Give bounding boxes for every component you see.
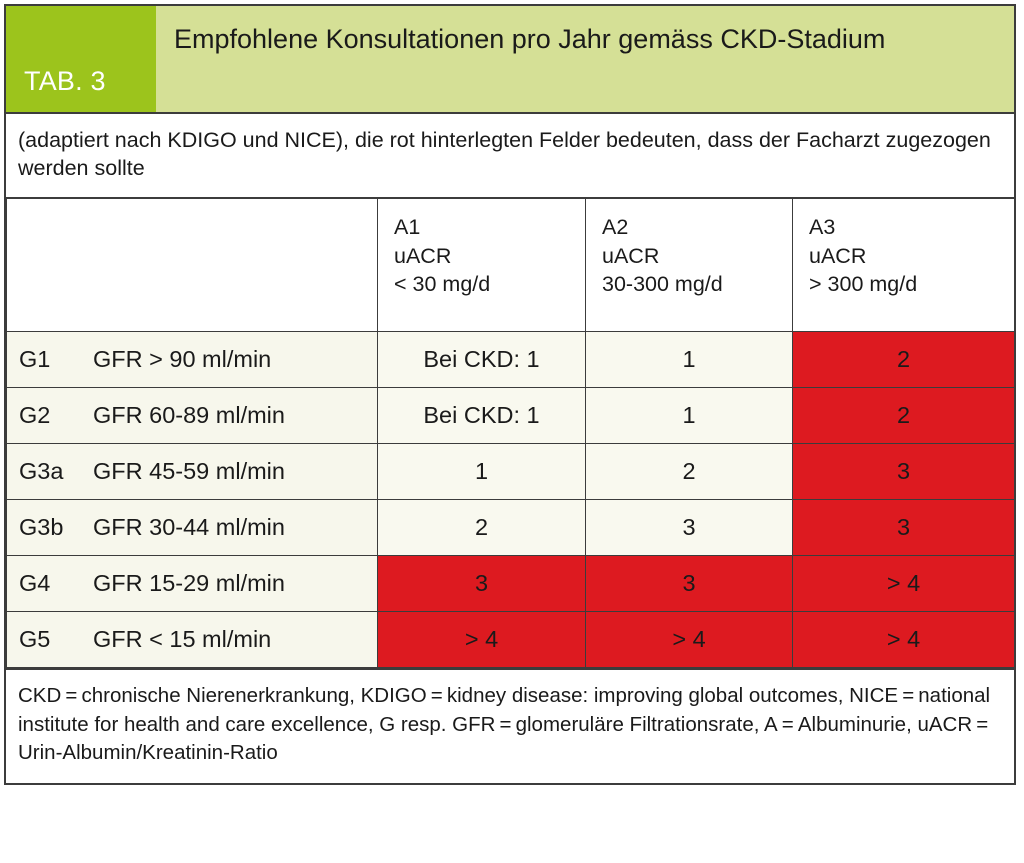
stage-description: GFR > 90 ml/min [93, 346, 271, 373]
stage-code: G4 [19, 570, 93, 597]
stage-description: GFR 30-44 ml/min [93, 514, 285, 541]
table-footnote-row: CKD = chronische Nierenerkrankung, KDIGO… [6, 668, 1014, 783]
column-header-code: A3 [809, 213, 1014, 242]
column-header-measure: uACR [602, 242, 792, 271]
value-cell-g2-a3: 2 [793, 388, 1015, 444]
value-cell-g3b-a2: 3 [586, 500, 793, 556]
column-header-a2: A2uACR30-300 mg/d [586, 198, 793, 332]
consultation-matrix: A1uACR< 30 mg/dA2uACR30-300 mg/dA3uACR> … [6, 197, 1015, 669]
stage-code: G5 [19, 626, 93, 653]
table-row: G2GFR 60-89 ml/minBei CKD: 112 [7, 388, 1015, 444]
value-cell-g3a-a1: 1 [378, 444, 586, 500]
stage-code: G3a [19, 458, 93, 485]
stage-inner: G3bGFR 30-44 ml/min [19, 514, 377, 541]
table-caption: (adaptiert nach KDIGO und NICE), die rot… [18, 128, 991, 180]
stage-cell-g2: G2GFR 60-89 ml/min [7, 388, 378, 444]
table-number-label: TAB. 3 [24, 68, 106, 95]
stage-inner: G4GFR 15-29 ml/min [19, 570, 377, 597]
value-cell-g5-a3: > 4 [793, 612, 1015, 668]
matrix-corner-cell [7, 198, 378, 332]
stage-description: GFR 60-89 ml/min [93, 402, 285, 429]
table-container: TAB. 3 Empfohlene Konsultationen pro Jah… [4, 4, 1016, 785]
table-caption-row: (adaptiert nach KDIGO und NICE), die rot… [6, 112, 1014, 197]
table-row: G5GFR < 15 ml/min> 4> 4> 4 [7, 612, 1015, 668]
stage-code: G2 [19, 402, 93, 429]
stage-cell-g1: G1GFR > 90 ml/min [7, 332, 378, 388]
value-cell-g2-a1: Bei CKD: 1 [378, 388, 586, 444]
stage-inner: G5GFR < 15 ml/min [19, 626, 377, 653]
matrix-header-row: A1uACR< 30 mg/dA2uACR30-300 mg/dA3uACR> … [7, 198, 1015, 332]
stage-code: G3b [19, 514, 93, 541]
value-cell-g3a-a3: 3 [793, 444, 1015, 500]
value-cell-g5-a2: > 4 [586, 612, 793, 668]
column-header-range: < 30 mg/d [394, 270, 585, 299]
stage-inner: G1GFR > 90 ml/min [19, 346, 377, 373]
column-header-range: > 300 mg/d [809, 270, 1014, 299]
stage-description: GFR 45-59 ml/min [93, 458, 285, 485]
value-cell-g1-a3: 2 [793, 332, 1015, 388]
column-header-a1: A1uACR< 30 mg/d [378, 198, 586, 332]
value-cell-g1-a2: 1 [586, 332, 793, 388]
table-row: G1GFR > 90 ml/minBei CKD: 112 [7, 332, 1015, 388]
column-header-code: A2 [602, 213, 792, 242]
stage-description: GFR < 15 ml/min [93, 626, 271, 653]
stage-cell-g4: G4GFR 15-29 ml/min [7, 556, 378, 612]
column-header-range: 30-300 mg/d [602, 270, 792, 299]
stage-inner: G2GFR 60-89 ml/min [19, 402, 377, 429]
stage-description: GFR 15-29 ml/min [93, 570, 285, 597]
stage-inner: G3aGFR 45-59 ml/min [19, 458, 377, 485]
table-title: Empfohlene Konsultationen pro Jahr gemäs… [174, 22, 885, 57]
value-cell-g4-a1: 3 [378, 556, 586, 612]
table-header-band: TAB. 3 Empfohlene Konsultationen pro Jah… [6, 6, 1014, 112]
value-cell-g4-a3: > 4 [793, 556, 1015, 612]
value-cell-g3b-a3: 3 [793, 500, 1015, 556]
stage-cell-g5: G5GFR < 15 ml/min [7, 612, 378, 668]
value-cell-g4-a2: 3 [586, 556, 793, 612]
table-title-cell: Empfohlene Konsultationen pro Jahr gemäs… [156, 6, 1014, 112]
stage-cell-g3b: G3bGFR 30-44 ml/min [7, 500, 378, 556]
column-header-code: A1 [394, 213, 585, 242]
column-header-measure: uACR [394, 242, 585, 271]
table-row: G3aGFR 45-59 ml/min123 [7, 444, 1015, 500]
table-row: G3bGFR 30-44 ml/min233 [7, 500, 1015, 556]
value-cell-g5-a1: > 4 [378, 612, 586, 668]
table-row: G4GFR 15-29 ml/min33> 4 [7, 556, 1015, 612]
stage-cell-g3a: G3aGFR 45-59 ml/min [7, 444, 378, 500]
stage-code: G1 [19, 346, 93, 373]
column-header-a3: A3uACR> 300 mg/d [793, 198, 1015, 332]
value-cell-g1-a1: Bei CKD: 1 [378, 332, 586, 388]
column-header-measure: uACR [809, 242, 1014, 271]
value-cell-g2-a2: 1 [586, 388, 793, 444]
value-cell-g3a-a2: 2 [586, 444, 793, 500]
value-cell-g3b-a1: 2 [378, 500, 586, 556]
table-footnote: CKD = chronische Nierenerkrankung, KDIGO… [18, 684, 992, 764]
table-number-badge: TAB. 3 [6, 6, 156, 112]
